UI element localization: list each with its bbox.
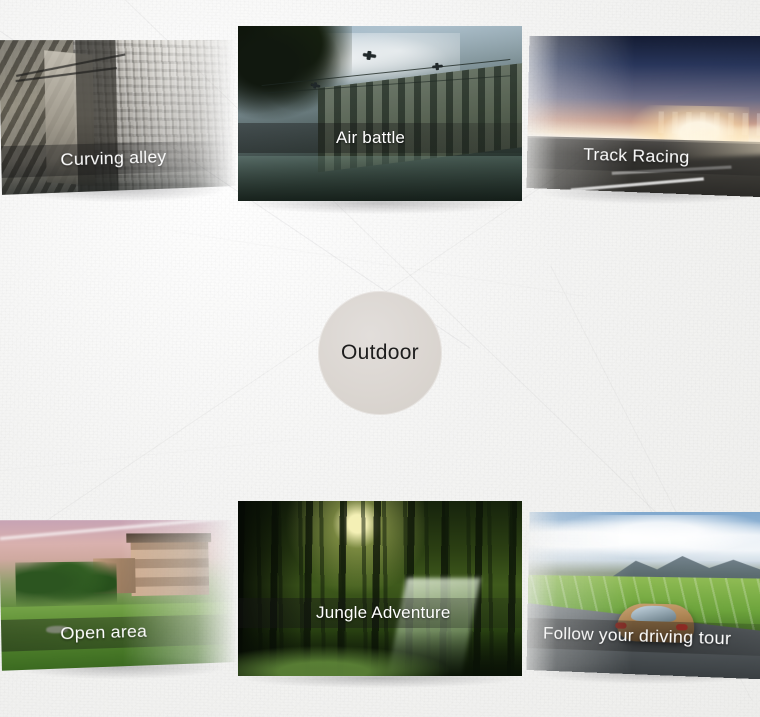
scene-tile-open-area[interactable]: Open area — [0, 520, 237, 671]
scene-tile-follow-driving-tour[interactable]: Follow your driving tour — [527, 512, 760, 680]
background-crease-line — [0, 439, 298, 471]
scene-tile-label: Air battle — [238, 123, 522, 153]
category-hub-outdoor[interactable]: Outdoor — [318, 291, 442, 415]
jungle-adventure-artwork — [238, 501, 522, 676]
aircraft-icon — [432, 64, 443, 67]
scene-tile-label: Jungle Adventure — [238, 598, 522, 628]
background-crease-line — [170, 230, 585, 297]
category-hub-label: Outdoor — [341, 341, 419, 365]
air-battle-artwork — [238, 26, 522, 201]
driving-tour-artwork — [527, 512, 760, 680]
scene-tile-track-racing[interactable]: Track Racing — [527, 36, 760, 198]
scene-tile-jungle-adventure[interactable]: Jungle Adventure — [238, 501, 522, 676]
scene-tile-curving-alley[interactable]: Curving alley — [0, 40, 237, 195]
scene-tile-air-battle[interactable]: Air battle — [238, 26, 522, 201]
scene-picker-canvas: Curving alley Air battle Track Racing — [0, 0, 760, 717]
